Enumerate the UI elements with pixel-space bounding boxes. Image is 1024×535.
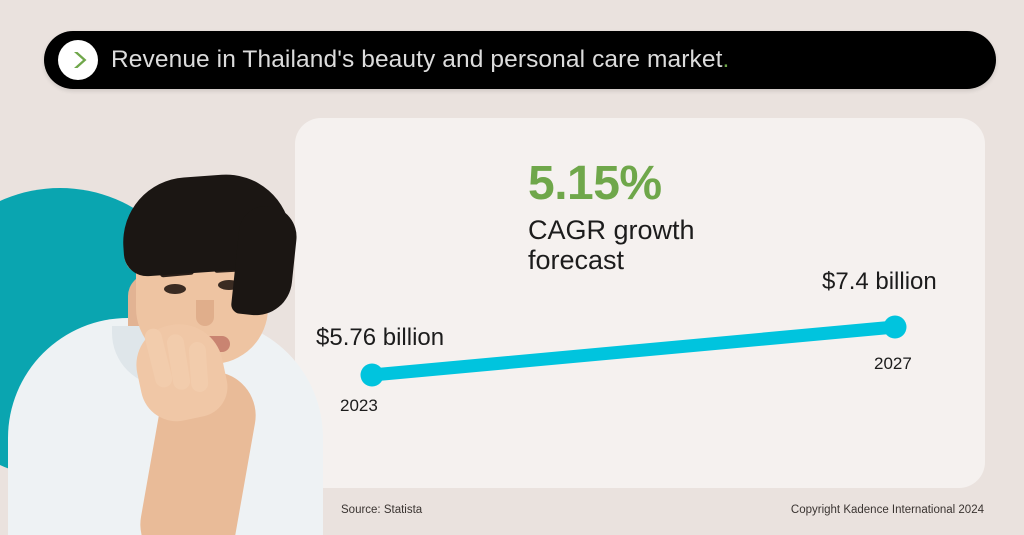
value-label-2027: $7.4 billion — [822, 268, 937, 296]
data-point-2027[interactable] — [884, 316, 907, 339]
chevron-right-icon — [58, 40, 98, 80]
page-title-accent-dot: . — [723, 46, 730, 73]
revenue-line-chart — [295, 118, 985, 488]
header-title-bar: Revenue in Thailand's beauty and persona… — [44, 31, 996, 89]
person-nose — [196, 300, 214, 326]
value-label-2023: $5.76 billion — [316, 324, 444, 352]
page-title-text: Revenue in Thailand's beauty and persona… — [111, 46, 723, 73]
person-finger-3 — [188, 341, 208, 392]
copyright-text: Copyright Kadence International 2024 — [791, 504, 984, 516]
year-label-2023: 2023 — [340, 396, 378, 416]
source-text: Source: Statista — [341, 504, 422, 516]
person-photo — [0, 88, 330, 535]
data-point-2023[interactable] — [361, 364, 384, 387]
infographic-root: Revenue in Thailand's beauty and persona… — [0, 0, 1024, 535]
year-label-2027: 2027 — [874, 354, 912, 374]
person-hair-side — [230, 203, 299, 318]
person-eye-left — [164, 284, 186, 294]
trend-line — [372, 327, 895, 375]
page-title: Revenue in Thailand's beauty and persona… — [111, 46, 729, 74]
